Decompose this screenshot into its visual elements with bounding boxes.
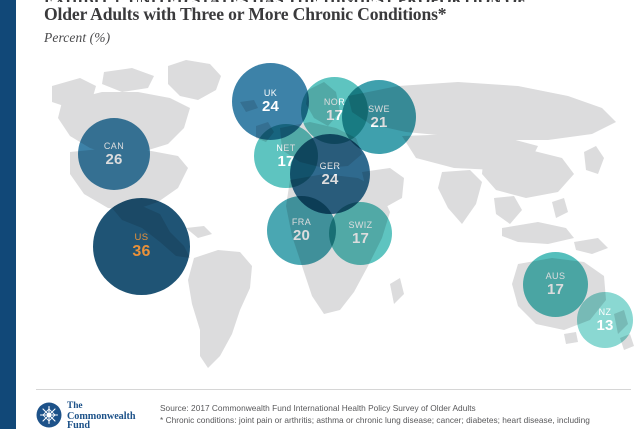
page-title: Older Adults with Three or More Chronic … [44, 4, 629, 24]
bubble-nz[interactable]: NZ13 [577, 292, 633, 348]
bubble-value: 21 [370, 115, 387, 130]
bubble-map: CAN26US36UK24NOR17SWE21NET17GER24FRA20SW… [18, 52, 643, 382]
bubble-country-code: NET [276, 144, 295, 153]
axis-unit-label: Percent (%) [44, 30, 629, 46]
bubble-country-code: SWIZ [348, 221, 372, 230]
bubble-value: 17 [352, 231, 369, 246]
bubble-country-code: NZ [599, 308, 612, 317]
logo-line-3: Fund [67, 421, 135, 431]
bubble-value: 24 [321, 172, 338, 187]
bubble-country-code: US [135, 233, 149, 243]
bubble-value: 17 [547, 282, 564, 297]
bubble-fra[interactable]: FRA20 [267, 196, 336, 265]
bubble-us[interactable]: US36 [93, 198, 190, 295]
commonwealth-fund-seal-icon [36, 402, 62, 428]
commonwealth-fund-wordmark: The Commonwealth Fund [67, 399, 135, 431]
left-accent-bar [0, 0, 16, 429]
bubble-value: 13 [596, 318, 613, 333]
bubble-aus[interactable]: AUS17 [523, 252, 588, 317]
exhibit-kicker: EXHIBIT 1. UNITED STATES HAS THE HIGHEST… [44, 0, 629, 2]
bubble-value: 26 [105, 152, 122, 167]
source-notes: Source: 2017 Commonwealth Fund Internati… [160, 399, 590, 426]
bubble-country-code: AUS [546, 272, 566, 281]
footer-divider [36, 389, 631, 390]
source-line: Source: 2017 Commonwealth Fund Internati… [160, 403, 590, 415]
header: EXHIBIT 1. UNITED STATES HAS THE HIGHEST… [44, 0, 629, 46]
bubble-value: 24 [262, 99, 279, 114]
bubble-value: 17 [326, 108, 343, 123]
bubble-value: 36 [132, 244, 150, 260]
footnote-line: * Chronic conditions: joint pain or arth… [160, 415, 590, 427]
footer: The Commonwealth Fund Source: 2017 Commo… [36, 399, 636, 431]
bubble-swiz[interactable]: SWIZ17 [329, 202, 392, 265]
bubble-country-code: FRA [292, 218, 311, 227]
bubble-value: 20 [293, 228, 310, 243]
bubble-country-code: UK [264, 89, 277, 98]
bubble-country-code: CAN [104, 142, 124, 151]
bubble-country-code: NOR [324, 98, 345, 107]
bubble-can[interactable]: CAN26 [78, 118, 150, 190]
bubble-country-code: GER [320, 162, 341, 171]
commonwealth-fund-logo: The Commonwealth Fund [36, 399, 148, 431]
bubble-country-code: SWE [368, 105, 390, 114]
